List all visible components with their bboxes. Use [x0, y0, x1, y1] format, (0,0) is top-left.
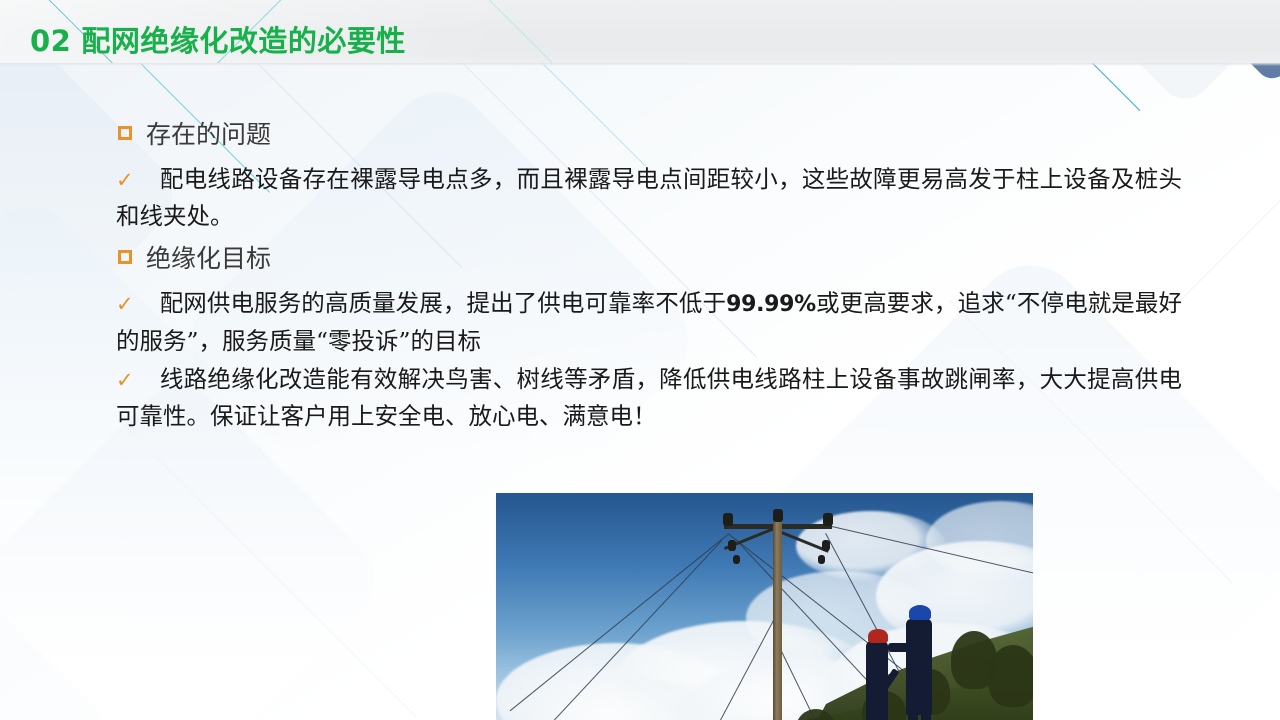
reliability-rate-value: 99.99% [726, 292, 816, 317]
photo-blue-helmet [909, 605, 931, 620]
photo-utility-pole [773, 519, 782, 720]
photo-worker-leg [868, 707, 877, 720]
hollow-square-bullet-icon [118, 126, 132, 140]
paragraph-goal-1: ✓配网供电服务的高质量发展，提出了供电可靠率不低于99.99%或更高要求，追求“… [116, 285, 1182, 359]
photo-worker-leg [921, 701, 931, 720]
photo-insulator [823, 513, 833, 526]
photo-red-helmet [868, 629, 888, 643]
section-heading-label: 存在的问题 [146, 115, 271, 151]
section-title-text: 配网绝缘化改造的必要性 [81, 26, 406, 58]
page-title: 02配网绝缘化改造的必要性 [30, 18, 406, 60]
photo-insulator [818, 555, 825, 564]
check-mark-icon: ✓ [116, 368, 134, 392]
section-heading-label: 绝缘化目标 [146, 239, 271, 275]
utility-pole-field-photo [496, 493, 1033, 720]
check-mark-icon: ✓ [116, 292, 134, 316]
paragraph-text-before: 配网供电服务的高质量发展，提出了供电可靠率不低于 [160, 289, 726, 317]
photo-shrub [988, 645, 1033, 707]
section-number: 02 [30, 24, 71, 58]
slide-content: 存在的问题 ✓配电线路设备存在裸露导电点多，而且裸露导电点间距较小，这些故障更易… [0, 63, 1280, 720]
paragraph-problem-1: ✓配电线路设备存在裸露导电点多，而且裸露导电点间距较小，这些故障更易高发于柱上设… [116, 161, 1182, 234]
photo-insulator [733, 555, 740, 564]
paragraph-goal-2: ✓线路绝缘化改造能有效解决鸟害、树线等矛盾，降低供电线路柱上设备事故跳闸率，大大… [116, 361, 1182, 434]
section-heading-goal: 绝缘化目标 [118, 239, 271, 275]
photo-insulator [723, 513, 733, 526]
photo-insulator [773, 509, 783, 522]
hollow-square-bullet-icon [118, 250, 132, 264]
paragraph-text: 配电线路设备存在裸露导电点多，而且裸露导电点间距较小，这些故障更易高发于柱上设备… [116, 165, 1182, 230]
photo-insulator [728, 540, 736, 551]
photo-worker-leg [879, 707, 888, 720]
check-mark-icon: ✓ [116, 168, 134, 192]
slide-canvas: 02配网绝缘化改造的必要性 存在的问题 ✓配电线路设备存在裸露导电点多，而且裸露… [0, 0, 1280, 720]
paragraph-text: 线路绝缘化改造能有效解决鸟害、树线等矛盾，降低供电线路柱上设备事故跳闸率，大大提… [116, 365, 1182, 430]
photo-insulator [822, 540, 830, 551]
section-heading-problem: 存在的问题 [118, 115, 271, 151]
photo-worker-arm [888, 643, 910, 652]
photo-worker-leg [908, 701, 918, 720]
